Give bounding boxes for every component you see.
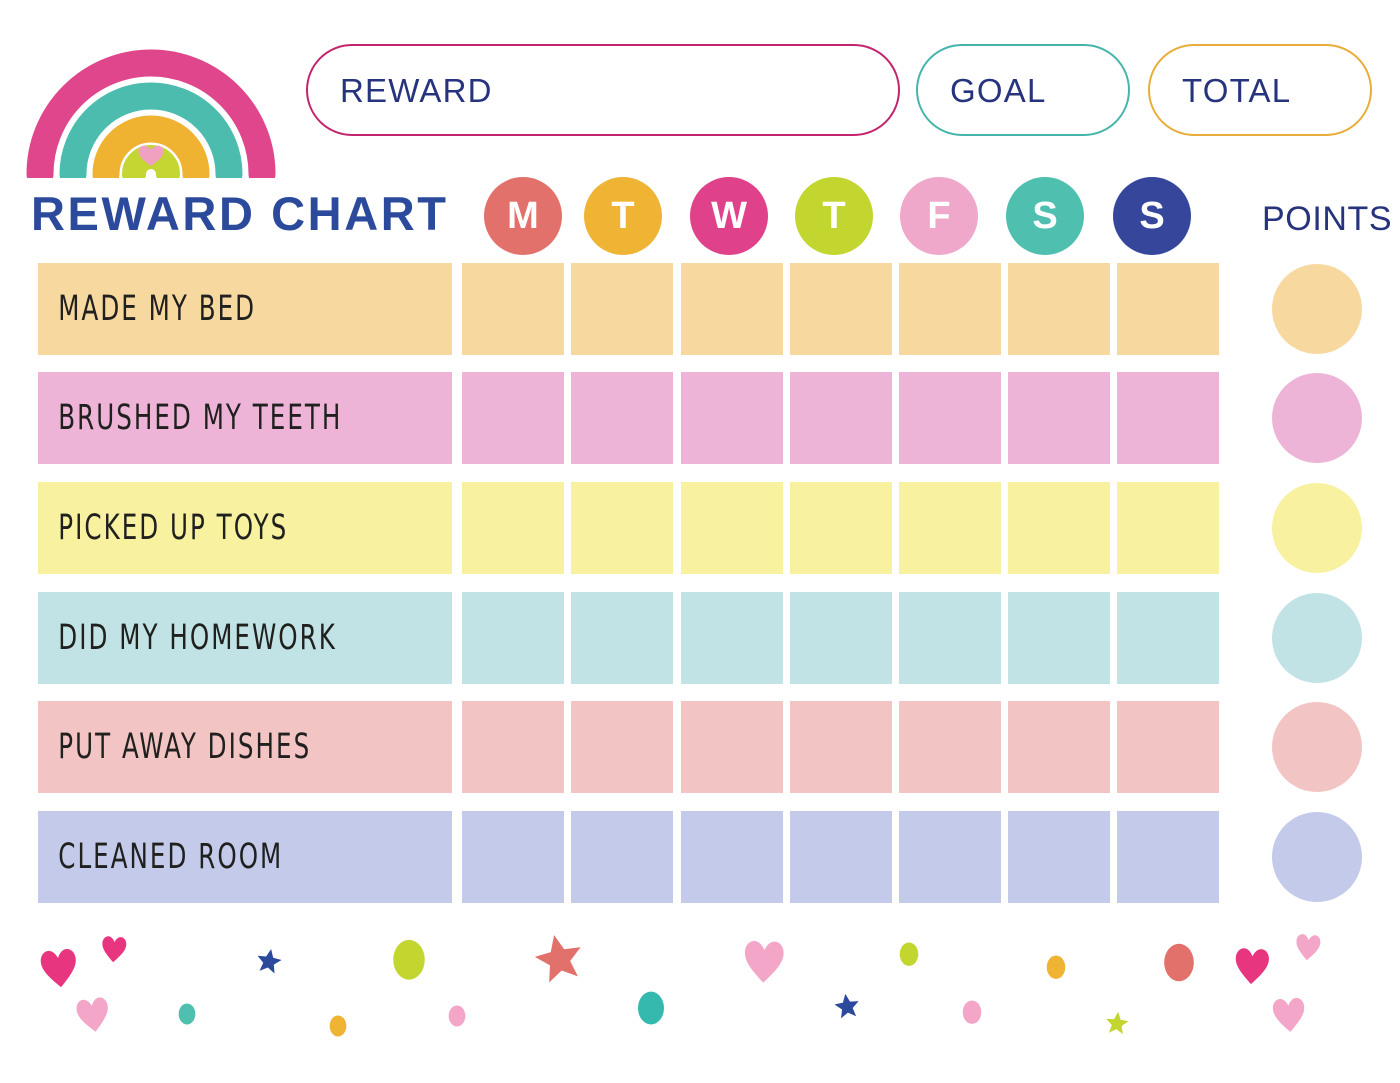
checkbox-cell-sunday[interactable]: [1117, 372, 1219, 464]
checkbox-cell-wednesday[interactable]: [681, 372, 783, 464]
checkbox-cell-monday[interactable]: [462, 701, 564, 793]
total-input-field[interactable]: TOTAL: [1148, 44, 1372, 136]
table-row: PUT AWAY DISHES: [38, 701, 1362, 793]
checkbox-cell-monday[interactable]: [462, 811, 564, 903]
chore-label-text: CLEANED ROOM: [38, 840, 283, 875]
day-circle-monday: M: [484, 177, 562, 255]
chore-label-text: PUT AWAY DISHES: [38, 730, 311, 765]
chore-label-text: DID MY HOMEWORK: [38, 621, 337, 656]
checkbox-cell-friday[interactable]: [899, 482, 1001, 574]
total-pill-label: TOTAL: [1150, 74, 1291, 107]
checkbox-cell-wednesday[interactable]: [681, 592, 783, 684]
dot-confetti-icon: [392, 939, 426, 980]
star-confetti-icon: [1104, 1010, 1130, 1036]
chore-label-cell: CLEANED ROOM: [38, 811, 452, 903]
goal-pill-label: GOAL: [918, 74, 1047, 107]
points-cell[interactable]: [1272, 812, 1362, 902]
rainbow-with-heart-icon: [26, 16, 276, 178]
checkbox-cell-wednesday[interactable]: [681, 263, 783, 355]
points-cell[interactable]: [1272, 373, 1362, 463]
checkbox-cell-friday[interactable]: [899, 592, 1001, 684]
day-circle-sunday: S: [1113, 177, 1191, 255]
star-confetti-icon: [832, 991, 861, 1020]
checkbox-cell-sunday[interactable]: [1117, 263, 1219, 355]
day-letter: W: [711, 197, 747, 235]
checkbox-cell-thursday[interactable]: [790, 263, 892, 355]
dot-confetti-icon: [1046, 955, 1066, 979]
table-row: MADE MY BED: [38, 263, 1362, 355]
checkbox-cell-saturday[interactable]: [1008, 482, 1110, 574]
goal-input-field[interactable]: GOAL: [916, 44, 1130, 136]
checkbox-cell-sunday[interactable]: [1117, 482, 1219, 574]
day-letter: T: [611, 197, 634, 235]
heart-confetti-icon: [100, 933, 128, 964]
table-row: BRUSHED MY TEETH: [38, 372, 1362, 464]
points-cell[interactable]: [1272, 593, 1362, 683]
checkbox-cell-friday[interactable]: [899, 372, 1001, 464]
checkbox-cell-wednesday[interactable]: [681, 701, 783, 793]
table-row: CLEANED ROOM: [38, 811, 1362, 903]
checkbox-cell-sunday[interactable]: [1117, 592, 1219, 684]
points-cell[interactable]: [1272, 264, 1362, 354]
table-row: PICKED UP TOYS: [38, 482, 1362, 574]
day-circle-wednesday: W: [690, 177, 768, 255]
day-letter: T: [822, 197, 845, 235]
dot-confetti-icon: [1163, 943, 1195, 982]
checkbox-cell-monday[interactable]: [462, 482, 564, 574]
reward-pill-label: REWARD: [308, 74, 493, 107]
checkbox-cell-thursday[interactable]: [790, 482, 892, 574]
chore-label-cell: PICKED UP TOYS: [38, 482, 452, 574]
checkbox-cell-wednesday[interactable]: [681, 482, 783, 574]
chore-label-text: BRUSHED MY TEETH: [38, 401, 342, 436]
checkbox-cell-friday[interactable]: [899, 263, 1001, 355]
checkbox-cell-monday[interactable]: [462, 263, 564, 355]
day-circle-saturday: S: [1006, 177, 1084, 255]
checkbox-cell-saturday[interactable]: [1008, 592, 1110, 684]
checkbox-cell-thursday[interactable]: [790, 592, 892, 684]
day-circle-friday: F: [900, 177, 978, 255]
day-letter: S: [1032, 197, 1057, 235]
chore-label-cell: DID MY HOMEWORK: [38, 592, 452, 684]
checkbox-cell-thursday[interactable]: [790, 701, 892, 793]
day-letter: F: [927, 197, 950, 235]
checkbox-cell-monday[interactable]: [462, 372, 564, 464]
checkbox-cell-thursday[interactable]: [790, 372, 892, 464]
day-letter: S: [1139, 197, 1164, 235]
checkbox-cell-tuesday[interactable]: [571, 263, 673, 355]
points-cell[interactable]: [1272, 702, 1362, 792]
reward-input-field[interactable]: REWARD: [306, 44, 900, 136]
star-confetti-icon: [254, 946, 284, 976]
heart-confetti-icon: [1294, 931, 1322, 962]
chore-label-text: PICKED UP TOYS: [38, 511, 288, 546]
chore-label-cell: BRUSHED MY TEETH: [38, 372, 452, 464]
heart-confetti-icon: [1233, 944, 1271, 986]
checkbox-cell-monday[interactable]: [462, 592, 564, 684]
checkbox-cell-tuesday[interactable]: [571, 592, 673, 684]
dot-confetti-icon: [329, 1015, 347, 1037]
points-cell[interactable]: [1272, 483, 1362, 573]
star-confetti-icon: [529, 928, 588, 987]
checkbox-cell-tuesday[interactable]: [571, 372, 673, 464]
day-letter: M: [507, 197, 539, 235]
chore-label-cell: MADE MY BED: [38, 263, 452, 355]
dot-confetti-icon: [637, 991, 665, 1025]
heart-confetti-icon: [74, 993, 113, 1035]
checkbox-cell-saturday[interactable]: [1008, 263, 1110, 355]
checkbox-cell-sunday[interactable]: [1117, 811, 1219, 903]
checkbox-cell-sunday[interactable]: [1117, 701, 1219, 793]
page-title: REWARD CHART: [31, 189, 449, 239]
heart-confetti-icon: [742, 936, 786, 984]
checkbox-cell-friday[interactable]: [899, 811, 1001, 903]
checkbox-cell-tuesday[interactable]: [571, 701, 673, 793]
checkbox-cell-saturday[interactable]: [1008, 701, 1110, 793]
table-row: DID MY HOMEWORK: [38, 592, 1362, 684]
dot-confetti-icon: [899, 942, 919, 966]
checkbox-cell-tuesday[interactable]: [571, 482, 673, 574]
checkbox-cell-tuesday[interactable]: [571, 811, 673, 903]
checkbox-cell-saturday[interactable]: [1008, 372, 1110, 464]
dot-confetti-icon: [448, 1005, 466, 1027]
checkbox-cell-wednesday[interactable]: [681, 811, 783, 903]
heart-confetti-icon: [38, 944, 80, 990]
checkbox-cell-saturday[interactable]: [1008, 811, 1110, 903]
dot-confetti-icon: [962, 1000, 982, 1024]
checkbox-cell-thursday[interactable]: [790, 811, 892, 903]
checkbox-cell-friday[interactable]: [899, 701, 1001, 793]
reward-chart-page: REWARD GOAL TOTAL REWARD CHART POINTS MT…: [0, 0, 1400, 1083]
day-circle-thursday: T: [795, 177, 873, 255]
chore-label-text: MADE MY BED: [38, 292, 256, 327]
chore-label-cell: PUT AWAY DISHES: [38, 701, 452, 793]
day-circle-tuesday: T: [584, 177, 662, 255]
heart-confetti-icon: [1271, 994, 1308, 1034]
dot-confetti-icon: [178, 1003, 196, 1025]
points-column-header: POINTS: [1262, 199, 1392, 239]
